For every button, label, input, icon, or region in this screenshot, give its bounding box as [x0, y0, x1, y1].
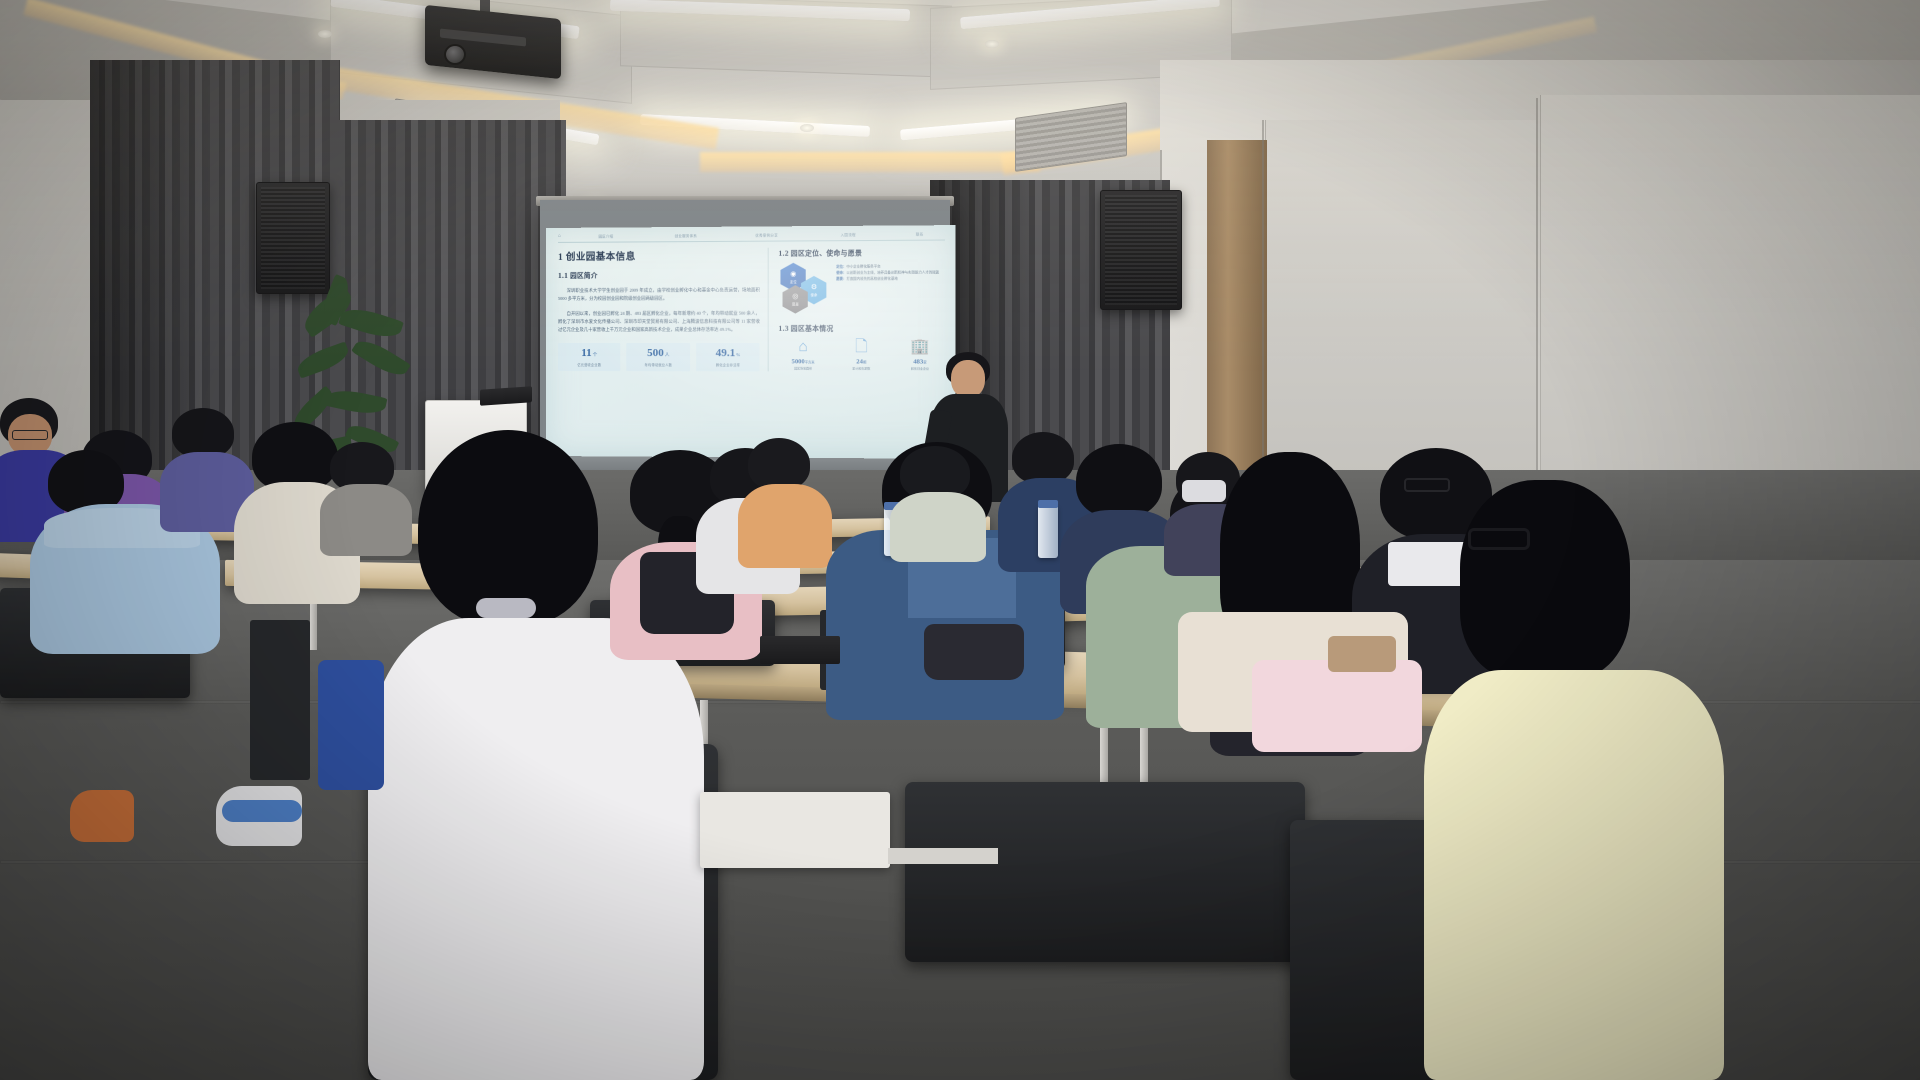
blue-bag — [318, 660, 384, 790]
metric-caption: 孵化创业企业 — [895, 367, 945, 371]
ceiling-spotlight — [800, 124, 814, 132]
definition-text: 以创新创业为主线，培养具备创新精神与实践能力人才的摇篮 — [846, 270, 939, 274]
metric-card: 🗋 24期 累计孵化期数 — [836, 340, 886, 371]
sneaker-stripe — [222, 800, 302, 822]
definition-term: 定位： — [836, 265, 846, 269]
stats-row: 11个 亿元营收企业数 500人 年均带动就业人数 49.1% 孵化企业存活率 — [558, 343, 760, 371]
backpack — [924, 624, 1024, 680]
section-1-1-number: 1.1 — [558, 271, 568, 280]
definition-list: 定位：中小企业孵化服务平台 使命：以创新创业为主线，培养具备创新精神与实践能力人… — [836, 264, 944, 282]
location-pin-icon: ◉ — [790, 270, 796, 277]
presentation-slide: ⌂ 园区介绍 创业服务体系 优秀案例分享 入园流程 联系 1 创业园基本信息 1… — [546, 225, 956, 459]
speaker-grill — [1105, 195, 1177, 305]
section-1-3-number: 1.3 — [778, 324, 788, 333]
hair — [1076, 444, 1162, 518]
hexagon-label: 愿景 — [792, 301, 799, 306]
document-icon: 🗋 — [836, 340, 886, 355]
stat-unit: 个 — [593, 352, 598, 357]
water-bottle — [1038, 506, 1058, 558]
face-mask — [1182, 480, 1226, 502]
nav-item-1: 创业服务体系 — [651, 233, 721, 239]
hair — [172, 408, 234, 458]
building-house-icon: ⌂ — [778, 340, 827, 355]
metric-card: ⌂ 5000平方米 园区场地面积 — [778, 340, 827, 371]
metric-icon-row: ⌂ 5000平方米 园区场地面积 🗋 24期 累计孵化期数 🏢 483家 — [778, 340, 945, 371]
paper-on-desk — [700, 792, 890, 868]
ceiling-spotlight — [985, 40, 999, 48]
stat-value: 500 — [647, 347, 664, 359]
projector-lens — [444, 44, 466, 65]
definition-text: 打造国内领先的高校创业孵化基地 — [846, 276, 897, 280]
stat-caption: 年均带动就业人数 — [630, 362, 687, 367]
metric-caption: 园区场地面积 — [778, 366, 827, 370]
wall-speaker-right — [1100, 190, 1182, 310]
presenter-head — [951, 360, 985, 398]
speaker-grill — [261, 187, 325, 289]
metric-value-wrap: 24期 — [836, 358, 886, 365]
torso — [1424, 670, 1724, 1080]
ceiling-spotlight — [318, 30, 332, 38]
projection-screen: ⌂ 园区介绍 创业服务体系 优秀案例分享 入园流程 联系 1 创业园基本信息 1… — [546, 225, 956, 459]
cove-light — [700, 152, 1040, 172]
stat-card: 500人 年均带动就业人数 — [627, 343, 690, 371]
nav-item-4: 联系 — [894, 231, 945, 236]
slide-title: 1 创业园基本信息 — [558, 248, 760, 263]
slide-nav: ⌂ 园区介绍 创业服务体系 优秀案例分享 入园流程 联系 — [558, 231, 945, 243]
wall-speaker-left — [256, 182, 330, 294]
stat-unit: 人 — [665, 352, 670, 357]
leather-pouch — [1328, 636, 1396, 672]
pink-bag — [1252, 660, 1422, 752]
metric-value-wrap: 5000平方米 — [778, 358, 827, 365]
hair — [748, 438, 810, 490]
stat-value-wrap: 49.1% — [699, 348, 757, 359]
paper-sheet — [888, 848, 998, 864]
shoe — [70, 790, 134, 842]
definition-term: 愿景： — [836, 276, 846, 280]
eyeglasses — [1404, 478, 1450, 492]
section-1-3-heading: 1.3 园区基本情况 — [778, 323, 945, 333]
section-1-1-label: 园区简介 — [570, 273, 598, 280]
metric-unit: 家 — [923, 360, 926, 364]
office-icon: 🏢 — [895, 340, 945, 355]
eyeglasses — [1468, 528, 1530, 550]
stat-unit: % — [736, 352, 740, 357]
section-1-1-paragraph-1: 深圳职业技术大学学生创业园于 2009 年成立，由学校创业孵化中心和基金中心负责… — [558, 286, 760, 303]
chair-arm — [250, 620, 310, 780]
hexagon-label: 使命 — [811, 292, 818, 297]
hair — [1012, 432, 1074, 484]
gear-people-icon: ⚙ — [811, 284, 817, 291]
stat-value: 49.1 — [716, 347, 736, 359]
definition-term: 使命： — [836, 270, 846, 274]
eyeglasses — [12, 430, 48, 440]
metric-value: 483 — [913, 358, 923, 365]
torso — [738, 484, 832, 568]
stat-card: 11个 亿元营收企业数 — [558, 343, 621, 371]
section-1-1-paragraph-2: 自开园以来，创业园已孵化 24 期、483 届区孵化企业，每年新增约 40 个，… — [558, 309, 760, 333]
device-on-desk — [760, 636, 840, 664]
stat-value: 11 — [581, 347, 591, 359]
slide-columns: 1 创业园基本信息 1.1 园区简介 深圳职业技术大学学生创业园于 2009 年… — [558, 247, 945, 372]
home-icon: ⌂ — [558, 234, 561, 239]
stat-card: 49.1% 孵化企业存活率 — [696, 343, 760, 371]
metric-value-wrap: 483家 — [895, 358, 945, 365]
torso — [890, 492, 986, 562]
section-1-2-label: 园区定位、使命与愿景 — [791, 250, 862, 258]
hair — [418, 430, 598, 626]
stat-value-wrap: 500人 — [630, 348, 687, 359]
stat-caption: 孵化企业存活率 — [699, 362, 757, 367]
stat-caption: 亿元营收企业数 — [561, 362, 618, 367]
stat-value-wrap: 11个 — [561, 348, 618, 359]
hexagon-label: 定位 — [790, 279, 797, 284]
chair-front-center — [905, 782, 1305, 962]
nav-item-2: 优秀案例分享 — [731, 232, 802, 238]
section-1-2-number: 1.2 — [778, 249, 788, 258]
section-1-2-heading: 1.2 园区定位、使命与愿景 — [778, 247, 945, 258]
metric-caption: 累计孵化期数 — [836, 366, 886, 370]
definition-item: 愿景：打造国内领先的高校创业孵化基地 — [836, 276, 944, 282]
metric-unit: 期 — [863, 360, 866, 364]
slide-column-right: 1.2 园区定位、使命与愿景 ◉ 定位 ⚙ 使命 ◎ — [768, 247, 945, 372]
target-icon: ◎ — [792, 293, 798, 300]
lecture-hall-photo: ⌂ 园区介绍 创业服务体系 优秀案例分享 入园流程 联系 1 创业园基本信息 1… — [0, 0, 1920, 1080]
slide-column-left: 1 创业园基本信息 1.1 园区简介 深圳职业技术大学学生创业园于 2009 年… — [558, 248, 760, 371]
torso — [320, 484, 412, 556]
metric-card: 🏢 483家 孵化创业企业 — [895, 340, 945, 371]
section-1-1-heading: 1.1 园区简介 — [558, 269, 760, 280]
torso — [368, 618, 704, 1080]
nav-item-3: 入园流程 — [812, 232, 884, 238]
nav-item-0: 园区介绍 — [571, 233, 640, 238]
hair-scrunchie — [476, 598, 536, 618]
bottle-cap — [1038, 500, 1058, 508]
metric-unit: 平方米 — [805, 360, 815, 364]
section-1-3-label: 园区基本情况 — [791, 326, 834, 333]
hexagon-cluster: ◉ 定位 ⚙ 使命 ◎ 愿景 定位：中小 — [778, 262, 945, 316]
metric-value: 5000 — [792, 358, 805, 365]
definition-text: 中小企业孵化服务平台 — [846, 264, 880, 268]
hair — [1460, 480, 1630, 680]
